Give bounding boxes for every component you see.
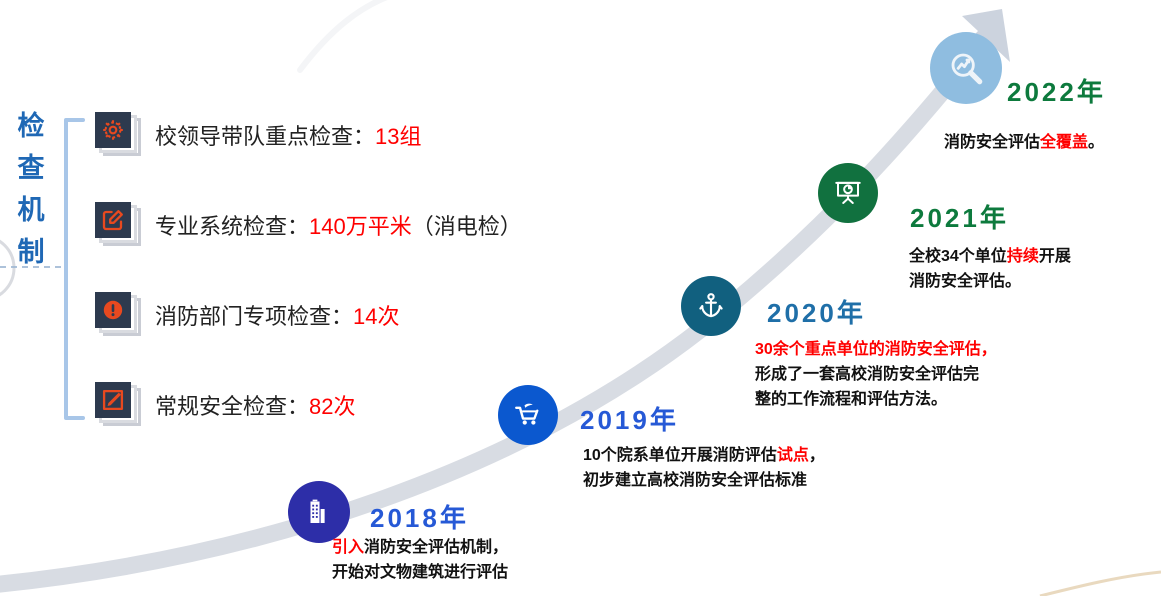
mechanism-label-char-2: 机 [14, 189, 48, 231]
faint-circle-edge [0, 236, 14, 300]
icon-frame [95, 292, 131, 328]
icon-frame [95, 382, 131, 418]
icon-frame [95, 202, 131, 238]
check-row-suffix: （消电检） [412, 214, 522, 239]
check-row-label: 消防部门专项检查： [155, 304, 353, 329]
desc-text: 整的工作流程和评估方法。 [755, 391, 947, 408]
mechanism-label-char-3: 制 [14, 231, 48, 273]
check-row: 消防部门专项检查：14次 [95, 292, 400, 338]
check-row: 校领导带队重点检查：13组 [95, 112, 422, 158]
faint-gold-arc [1040, 572, 1161, 596]
desc-text: 开展 [1039, 248, 1071, 265]
pencil-square-icon [95, 382, 141, 428]
gear-icon [95, 112, 141, 158]
timeline-year-2019: 2019年 [580, 400, 679, 437]
desc-text: 形成了一套高校消防安全评估完 [755, 366, 979, 383]
desc-line: 整的工作流程和评估方法。 [755, 387, 997, 412]
building-icon [304, 497, 334, 527]
check-row-text: 专业系统检查：140万平米（消电检） [155, 209, 522, 241]
desc-line: 形成了一套高校消防安全评估完 [755, 362, 997, 387]
timeline-desc-2020: 30余个重点单位的消防安全评估， 形成了一套高校消防安全评估完 整的工作流程和评… [755, 337, 997, 412]
check-row-value: 82次 [309, 394, 355, 419]
mechanism-vertical-label: 检 查 机 制 [14, 105, 48, 273]
anchor-icon [696, 291, 726, 321]
left-bracket [66, 120, 83, 418]
desc-highlight: 引入 [332, 539, 364, 556]
desc-highlight: 持续 [1007, 248, 1039, 265]
timeline-node-2020-circle [681, 276, 741, 336]
check-row-label: 专业系统检查： [155, 214, 309, 239]
mechanism-label-char-0: 检 [14, 105, 48, 147]
magnifier-trend-icon [946, 48, 986, 88]
desc-text: 开始对文物建筑进行评估 [332, 564, 508, 581]
desc-text: 消防安全评估机制， [364, 539, 508, 556]
desc-text: 初步建立高校消防安全评估标准 [583, 472, 807, 489]
check-row: 专业系统检查：140万平米（消电检） [95, 202, 522, 248]
desc-highlight: 试点 [777, 447, 809, 464]
timeline-year-2022: 2022年 [1007, 72, 1106, 109]
desc-text: 。 [1088, 134, 1104, 151]
desc-line: 10个院系单位开展消防评估试点， [583, 443, 825, 468]
desc-line: 初步建立高校消防安全评估标准 [583, 468, 825, 493]
timeline-node-2018-circle [288, 481, 350, 543]
mechanism-label-char-1: 查 [14, 147, 48, 189]
timeline-year-2021: 2021年 [910, 198, 1009, 235]
desc-text: 消防安全评估。 [909, 273, 1021, 290]
check-row: 常规安全检查：82次 [95, 382, 356, 428]
desc-line: 开始对文物建筑进行评估 [332, 560, 508, 585]
infographic-canvas: 检 查 机 制 校领导带队重点检查：13组 [0, 0, 1161, 596]
check-row-label: 常规安全检查： [155, 394, 309, 419]
desc-text: ， [809, 447, 825, 464]
desc-highlight: 全覆盖 [1040, 134, 1088, 151]
desc-line: 30余个重点单位的消防安全评估， [755, 337, 997, 362]
timeline-desc-2018: 引入消防安全评估机制， 开始对文物建筑进行评估 [332, 535, 508, 585]
timeline-desc-2019: 10个院系单位开展消防评估试点， 初步建立高校消防安全评估标准 [583, 443, 825, 493]
timeline-year-2020: 2020年 [767, 293, 866, 330]
alert-exclamation-icon [95, 292, 141, 338]
desc-text: 全校34个单位 [909, 248, 1007, 265]
check-row-text: 消防部门专项检查：14次 [155, 299, 400, 331]
shopping-cart-icon [513, 400, 543, 430]
edit-square-icon [95, 202, 141, 248]
desc-text: 消防安全评估 [944, 134, 1040, 151]
desc-line: 引入消防安全评估机制， [332, 535, 508, 560]
timeline-node-2019-circle [498, 385, 558, 445]
faint-curve-decoration [300, 0, 395, 70]
check-row-label: 校领导带队重点检查： [155, 124, 375, 149]
check-row-text: 常规安全检查：82次 [155, 389, 356, 421]
presentation-chart-icon [832, 177, 864, 209]
desc-line: 消防安全评估。 [909, 269, 1071, 294]
timeline-year-2018: 2018年 [370, 498, 469, 535]
check-row-value: 14次 [353, 304, 399, 329]
check-row-value: 140万平米 [309, 214, 412, 239]
desc-line: 消防安全评估全覆盖。 [944, 130, 1104, 155]
timeline-desc-2022: 消防安全评估全覆盖。 [944, 130, 1104, 155]
timeline-desc-2021: 全校34个单位持续开展 消防安全评估。 [909, 244, 1071, 294]
check-row-text: 校领导带队重点检查：13组 [155, 119, 422, 151]
check-row-value: 13组 [375, 124, 421, 149]
desc-highlight: 30余个重点单位的消防安全评估， [755, 341, 997, 358]
desc-text: 10个院系单位开展消防评估 [583, 447, 777, 464]
timeline-node-2021-circle [818, 163, 878, 223]
timeline-node-2022-circle [930, 32, 1002, 104]
desc-line: 全校34个单位持续开展 [909, 244, 1071, 269]
icon-frame [95, 112, 131, 148]
